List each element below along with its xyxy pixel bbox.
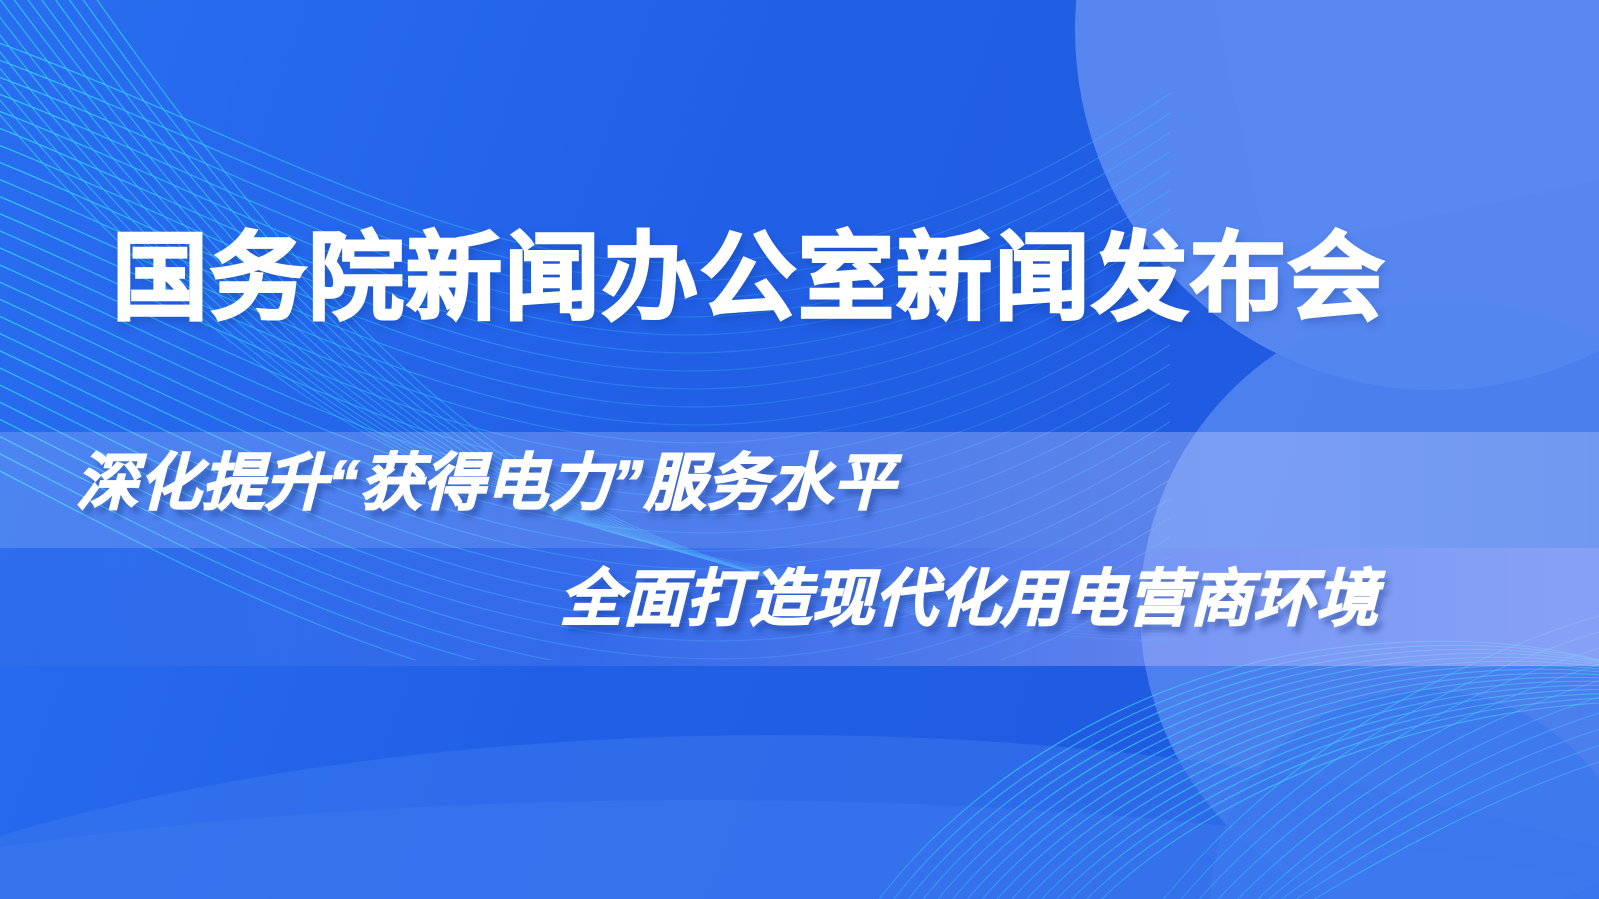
subtitle-line-1: 深化提升“获得电力”服务水平 — [76, 448, 896, 520]
subtitle-line-2: 全面打造现代化用电营商环境 — [560, 564, 1379, 636]
page-title: 国务院新闻办公室新闻发布会 — [112, 224, 1492, 334]
poster-canvas: 国务院新闻办公室新闻发布会 深化提升“获得电力”服务水平 全面打造现代化用电营商… — [0, 0, 1599, 899]
